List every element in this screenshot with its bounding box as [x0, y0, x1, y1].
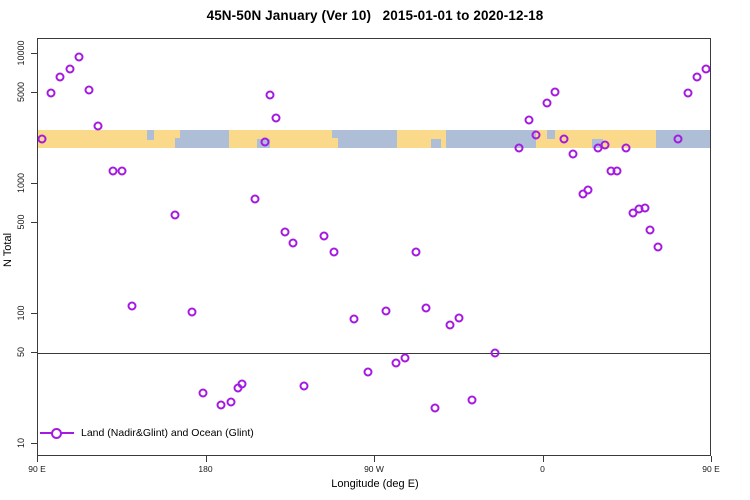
- data-point: [445, 321, 454, 330]
- ocean-inlet-segment: [332, 130, 341, 138]
- data-point: [281, 227, 290, 236]
- data-point: [363, 367, 372, 376]
- x-tick-label: 180: [198, 464, 212, 474]
- ocean-inlet-segment: [431, 139, 440, 148]
- data-point: [693, 73, 702, 82]
- x-tick-label: 90 E: [28, 464, 46, 474]
- data-point: [198, 388, 207, 397]
- x-tick-label: 0: [540, 464, 545, 474]
- data-point: [490, 349, 499, 358]
- data-point: [524, 116, 533, 125]
- data-point: [118, 167, 127, 176]
- data-point: [93, 121, 102, 130]
- y-tick-label: 100: [16, 306, 26, 321]
- y-tick-label: 5000: [16, 82, 26, 102]
- x-tick-mark: [711, 456, 712, 462]
- data-point: [217, 401, 226, 410]
- reference-line-50: [38, 353, 710, 354]
- data-point: [584, 185, 593, 194]
- data-point: [226, 398, 235, 407]
- legend-marker-icon: [40, 426, 74, 440]
- data-point: [288, 239, 297, 248]
- data-point: [683, 89, 692, 98]
- data-point: [320, 231, 329, 240]
- land-segment: [38, 130, 150, 148]
- data-point: [84, 85, 93, 94]
- x-tick-mark: [206, 456, 207, 462]
- plot-area: [37, 38, 711, 456]
- data-point: [56, 73, 65, 82]
- page-title: 45N-50N January (Ver 10) 2015-01-01 to 2…: [0, 8, 750, 23]
- data-point: [421, 303, 430, 312]
- y-tick-label: 50: [16, 347, 26, 357]
- ocean-inlet-segment: [547, 130, 554, 139]
- y-tick-label: 1000: [16, 173, 26, 193]
- plot-inner: [38, 39, 710, 455]
- data-point: [170, 210, 179, 219]
- data-point: [329, 248, 338, 257]
- data-point: [532, 130, 541, 139]
- y-axis-title: N Total: [2, 233, 14, 267]
- data-point: [108, 167, 117, 176]
- data-point: [47, 89, 56, 98]
- y-tick-label: 500: [16, 215, 26, 230]
- land-segment: [229, 130, 311, 148]
- x-tick-mark: [543, 456, 544, 462]
- data-point: [238, 380, 247, 389]
- data-point: [653, 242, 662, 251]
- ocean-inlet-segment: [147, 130, 154, 140]
- data-point: [543, 98, 552, 107]
- ocean-inlet-segment: [175, 138, 182, 148]
- data-point: [674, 135, 683, 144]
- data-point: [382, 307, 391, 316]
- x-tick-label: 90 W: [364, 464, 384, 474]
- data-point: [612, 167, 621, 176]
- data-point: [75, 53, 84, 62]
- legend-circle-icon: [51, 428, 62, 439]
- legend: Land (Nadir&Glint) and Ocean (Glint): [40, 426, 254, 440]
- y-tick-label: 10: [16, 438, 26, 448]
- data-point: [412, 248, 421, 257]
- y-tick-label: 10000: [16, 40, 26, 65]
- data-point: [515, 143, 524, 152]
- data-point: [646, 226, 655, 235]
- x-tick-mark: [37, 456, 38, 462]
- legend-label: Land (Nadir&Glint) and Ocean (Glint): [81, 427, 254, 439]
- data-point: [640, 203, 649, 212]
- data-point: [260, 138, 269, 147]
- data-point: [350, 314, 359, 323]
- data-point: [400, 354, 409, 363]
- data-point: [391, 359, 400, 368]
- x-tick-label: 90 E: [702, 464, 720, 474]
- data-point: [621, 143, 630, 152]
- data-point: [468, 395, 477, 404]
- data-point: [266, 91, 275, 100]
- scatter-chart: 45N-50N January (Ver 10) 2015-01-01 to 2…: [0, 0, 750, 500]
- data-point: [560, 135, 569, 144]
- data-point: [550, 87, 559, 96]
- data-point: [455, 314, 464, 323]
- data-point: [187, 307, 196, 316]
- data-point: [127, 302, 136, 311]
- data-point: [430, 404, 439, 413]
- data-point: [299, 382, 308, 391]
- x-axis-title: Longitude (deg E): [0, 478, 750, 490]
- data-point: [251, 194, 260, 203]
- x-tick-mark: [374, 456, 375, 462]
- data-point: [702, 64, 710, 73]
- data-point: [569, 150, 578, 159]
- data-point: [65, 64, 74, 73]
- data-point: [601, 140, 610, 149]
- data-point: [271, 114, 280, 123]
